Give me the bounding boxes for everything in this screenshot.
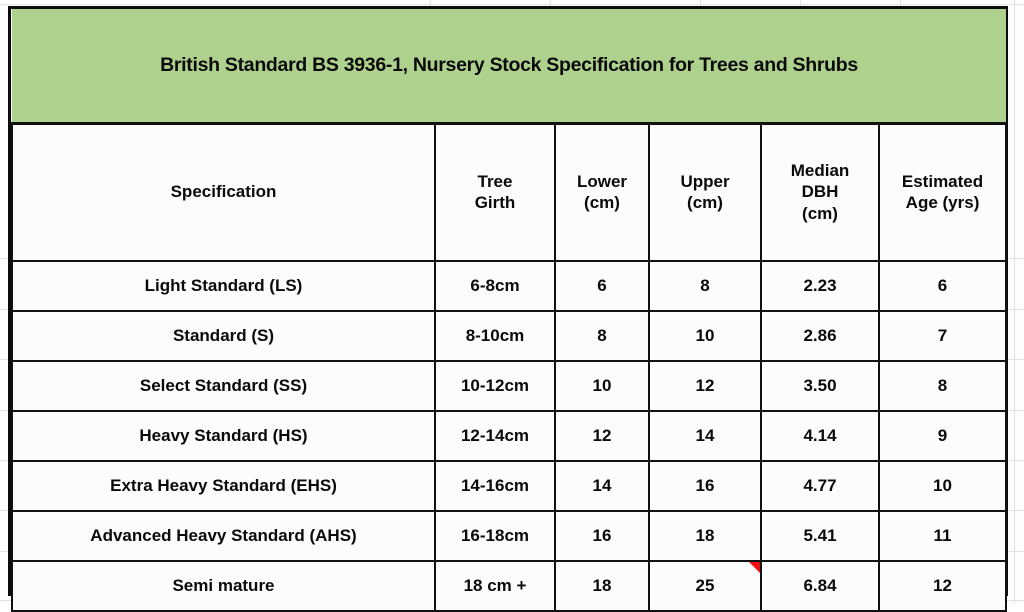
cell-estimated-age[interactable]: 9: [879, 411, 1006, 461]
cell-median-dbh-cm[interactable]: 2.23: [761, 261, 879, 311]
table-title: British Standard BS 3936-1, Nursery Stoc…: [12, 9, 1006, 123]
title-banner-row: British Standard BS 3936-1, Nursery Stoc…: [12, 9, 1006, 123]
cell-estimated-age[interactable]: 6: [879, 261, 1006, 311]
column-header-line2: Age (yrs): [906, 193, 980, 212]
cell-tree-girth[interactable]: 8-10cm: [435, 311, 555, 361]
sheet-gridline-vertical: [1014, 0, 1015, 604]
cell-upper-cm[interactable]: 10: [649, 311, 761, 361]
table-row: Select Standard (SS) 10-12cm 10 12 3.50 …: [12, 361, 1006, 411]
column-header-line1: Upper: [680, 172, 729, 191]
table-row: Standard (S) 8-10cm 8 10 2.86 7: [12, 311, 1006, 361]
column-header-lower-cm[interactable]: Lower (cm): [555, 123, 649, 261]
column-header-line1: Lower: [577, 172, 627, 191]
cell-median-dbh-cm[interactable]: 4.77: [761, 461, 879, 511]
cell-specification[interactable]: Extra Heavy Standard (EHS): [12, 461, 435, 511]
table-row: Extra Heavy Standard (EHS) 14-16cm 14 16…: [12, 461, 1006, 511]
cell-specification[interactable]: Standard (S): [12, 311, 435, 361]
column-header-specification[interactable]: Specification: [12, 123, 435, 261]
column-header-median-dbh-cm[interactable]: Median DBH (cm): [761, 123, 879, 261]
cell-estimated-age[interactable]: 7: [879, 311, 1006, 361]
cell-tree-girth[interactable]: 12-14cm: [435, 411, 555, 461]
table-row: Light Standard (LS) 6-8cm 6 8 2.23 6: [12, 261, 1006, 311]
column-header-line2: DBH: [802, 182, 839, 201]
column-header-line2: (cm): [687, 193, 723, 212]
cell-estimated-age[interactable]: 8: [879, 361, 1006, 411]
comment-indicator-icon[interactable]: [749, 562, 760, 573]
column-header-line1: Median: [791, 161, 850, 180]
column-header-label: Specification: [171, 182, 277, 201]
cell-specification[interactable]: Select Standard (SS): [12, 361, 435, 411]
column-header-tree-girth[interactable]: Tree Girth: [435, 123, 555, 261]
cell-lower-cm[interactable]: 6: [555, 261, 649, 311]
column-header-line3: (cm): [802, 204, 838, 223]
cell-tree-girth[interactable]: 14-16cm: [435, 461, 555, 511]
column-header-estimated-age[interactable]: Estimated Age (yrs): [879, 123, 1006, 261]
column-header-line2: (cm): [584, 193, 620, 212]
column-header-upper-cm[interactable]: Upper (cm): [649, 123, 761, 261]
cell-tree-girth[interactable]: 6-8cm: [435, 261, 555, 311]
column-header-line1: Tree: [478, 172, 513, 191]
cell-specification[interactable]: Light Standard (LS): [12, 261, 435, 311]
table-row: Advanced Heavy Standard (AHS) 16-18cm 16…: [12, 511, 1006, 561]
cell-tree-girth[interactable]: 10-12cm: [435, 361, 555, 411]
cell-lower-cm[interactable]: 8: [555, 311, 649, 361]
column-header-line1: Estimated: [902, 172, 983, 191]
cell-upper-cm[interactable]: 18: [649, 511, 761, 561]
nursery-stock-specification-table: British Standard BS 3936-1, Nursery Stoc…: [8, 6, 1008, 596]
cell-specification[interactable]: Heavy Standard (HS): [12, 411, 435, 461]
cell-estimated-age[interactable]: 11: [879, 511, 1006, 561]
cell-median-dbh-cm[interactable]: 5.41: [761, 511, 879, 561]
cell-median-dbh-cm[interactable]: 4.14: [761, 411, 879, 461]
cell-median-dbh-cm[interactable]: 3.50: [761, 361, 879, 411]
table-header-row: Specification Tree Girth Lower (cm) Uppe…: [12, 123, 1006, 261]
sheet-gridline-horizontal: [0, 4, 1024, 5]
cell-lower-cm[interactable]: 14: [555, 461, 649, 511]
table-row: Heavy Standard (HS) 12-14cm 12 14 4.14 9: [12, 411, 1006, 461]
cell-median-dbh-cm[interactable]: 2.86: [761, 311, 879, 361]
cell-tree-girth[interactable]: 16-18cm: [435, 511, 555, 561]
cell-upper-cm[interactable]: 14: [649, 411, 761, 461]
cell-upper-cm[interactable]: 16: [649, 461, 761, 511]
cell-specification[interactable]: Advanced Heavy Standard (AHS): [12, 511, 435, 561]
spec-table: British Standard BS 3936-1, Nursery Stoc…: [11, 9, 1007, 612]
cell-value: 25: [696, 576, 715, 595]
cell-upper-cm[interactable]: 12: [649, 361, 761, 411]
column-header-line2: Girth: [475, 193, 516, 212]
cell-lower-cm[interactable]: 10: [555, 361, 649, 411]
cell-upper-cm[interactable]: 8: [649, 261, 761, 311]
cell-lower-cm[interactable]: 12: [555, 411, 649, 461]
cell-estimated-age[interactable]: 10: [879, 461, 1006, 511]
cell-lower-cm[interactable]: 16: [555, 511, 649, 561]
